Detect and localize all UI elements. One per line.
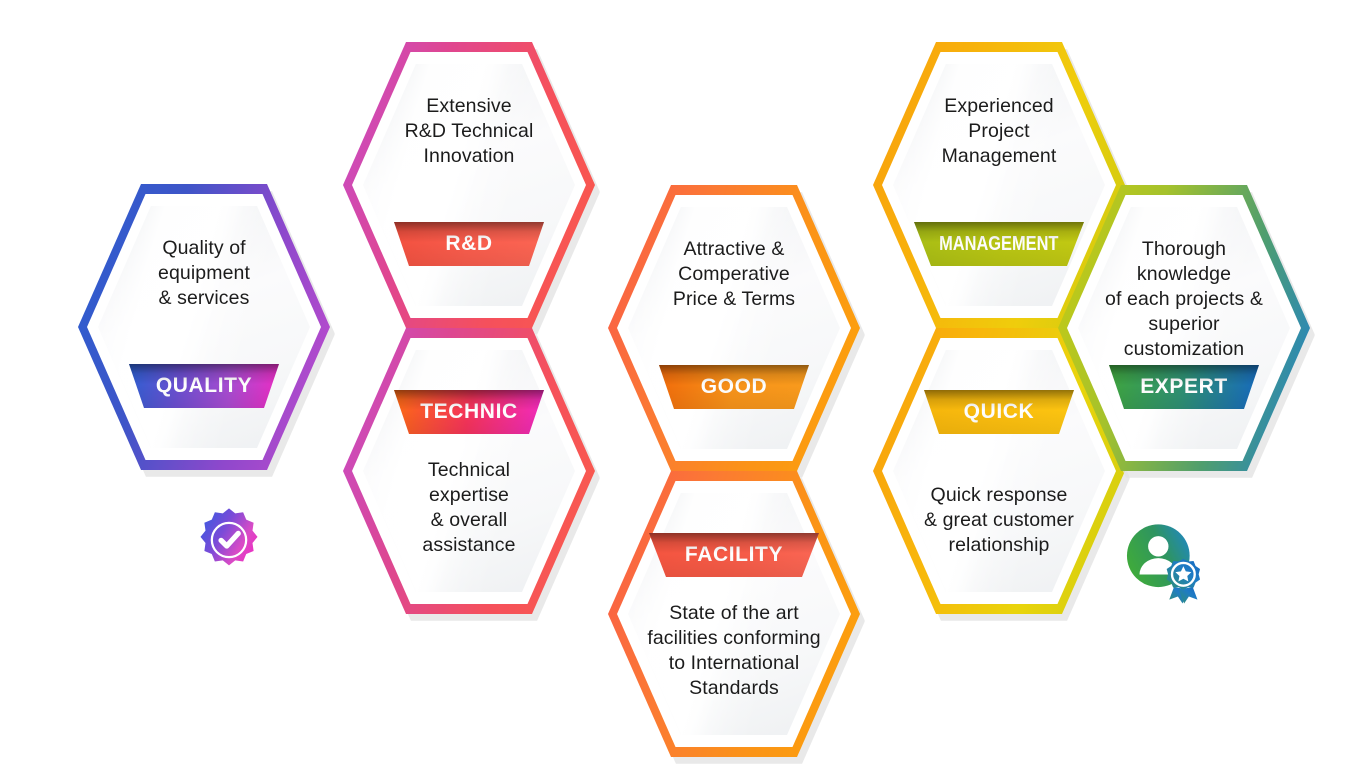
hexagon-content-technic: Technical expertise & overall assistance <box>343 328 595 614</box>
hexagon-description: Quick response & great customer relation… <box>924 483 1074 558</box>
hexagon-facility[interactable]: State of the art facilities conforming t… <box>608 471 860 757</box>
hexagon-content-expert: Thorough knowledge of each projects & su… <box>1058 185 1310 471</box>
hexagon-rnd[interactable]: Extensive R&D Technical InnovationR&D <box>343 42 595 328</box>
ribbon-label: FACILITY <box>685 543 783 567</box>
ribbon-good[interactable]: GOOD <box>659 365 809 409</box>
ribbon-label: R&D <box>445 232 492 256</box>
ribbon-technic[interactable]: TECHNIC <box>394 390 544 434</box>
ribbon-label: EXPERT <box>1140 375 1228 399</box>
ribbon-label: MANAGEMENT <box>939 233 1058 256</box>
ribbon-management[interactable]: MANAGEMENT <box>914 222 1084 266</box>
ribbon-rnd[interactable]: R&D <box>394 222 544 266</box>
ribbon-label: GOOD <box>701 375 768 399</box>
user-award-icon <box>1116 515 1210 614</box>
hexagon-content-quality: Quality of equipment & services <box>78 184 330 470</box>
hexagon-technic[interactable]: Technical expertise & overall assistance… <box>343 328 595 614</box>
hexagon-description: Quality of equipment & services <box>158 236 250 311</box>
ribbon-facility[interactable]: FACILITY <box>649 533 819 577</box>
infographic-canvas: Quality of equipment & servicesQUALITYEx… <box>0 0 1370 770</box>
hexagon-good[interactable]: Attractive & Comperative Price & TermsGO… <box>608 185 860 471</box>
hexagon-quality[interactable]: Quality of equipment & servicesQUALITY <box>78 184 330 470</box>
hexagon-description: Thorough knowledge of each projects & su… <box>1105 237 1263 362</box>
hexagon-description: Experienced Project Management <box>942 94 1057 169</box>
hexagon-description: State of the art facilities conforming t… <box>647 601 820 701</box>
ribbon-quick[interactable]: QUICK <box>924 390 1074 434</box>
hexagon-description: Extensive R&D Technical Innovation <box>405 94 534 169</box>
hexagon-description: Technical expertise & overall assistance <box>422 458 515 558</box>
hexagon-content-rnd: Extensive R&D Technical Innovation <box>343 42 595 328</box>
ribbon-label: QUICK <box>964 400 1035 424</box>
ribbon-label: QUALITY <box>156 374 252 398</box>
ribbon-quality[interactable]: QUALITY <box>129 364 279 408</box>
verified-badge-icon <box>196 507 262 578</box>
hexagon-description: Attractive & Comperative Price & Terms <box>673 237 795 312</box>
ribbon-label: TECHNIC <box>420 400 518 424</box>
hexagon-content-good: Attractive & Comperative Price & Terms <box>608 185 860 471</box>
hexagon-content-facility: State of the art facilities conforming t… <box>608 471 860 757</box>
hexagon-expert[interactable]: Thorough knowledge of each projects & su… <box>1058 185 1310 471</box>
ribbon-expert[interactable]: EXPERT <box>1109 365 1259 409</box>
